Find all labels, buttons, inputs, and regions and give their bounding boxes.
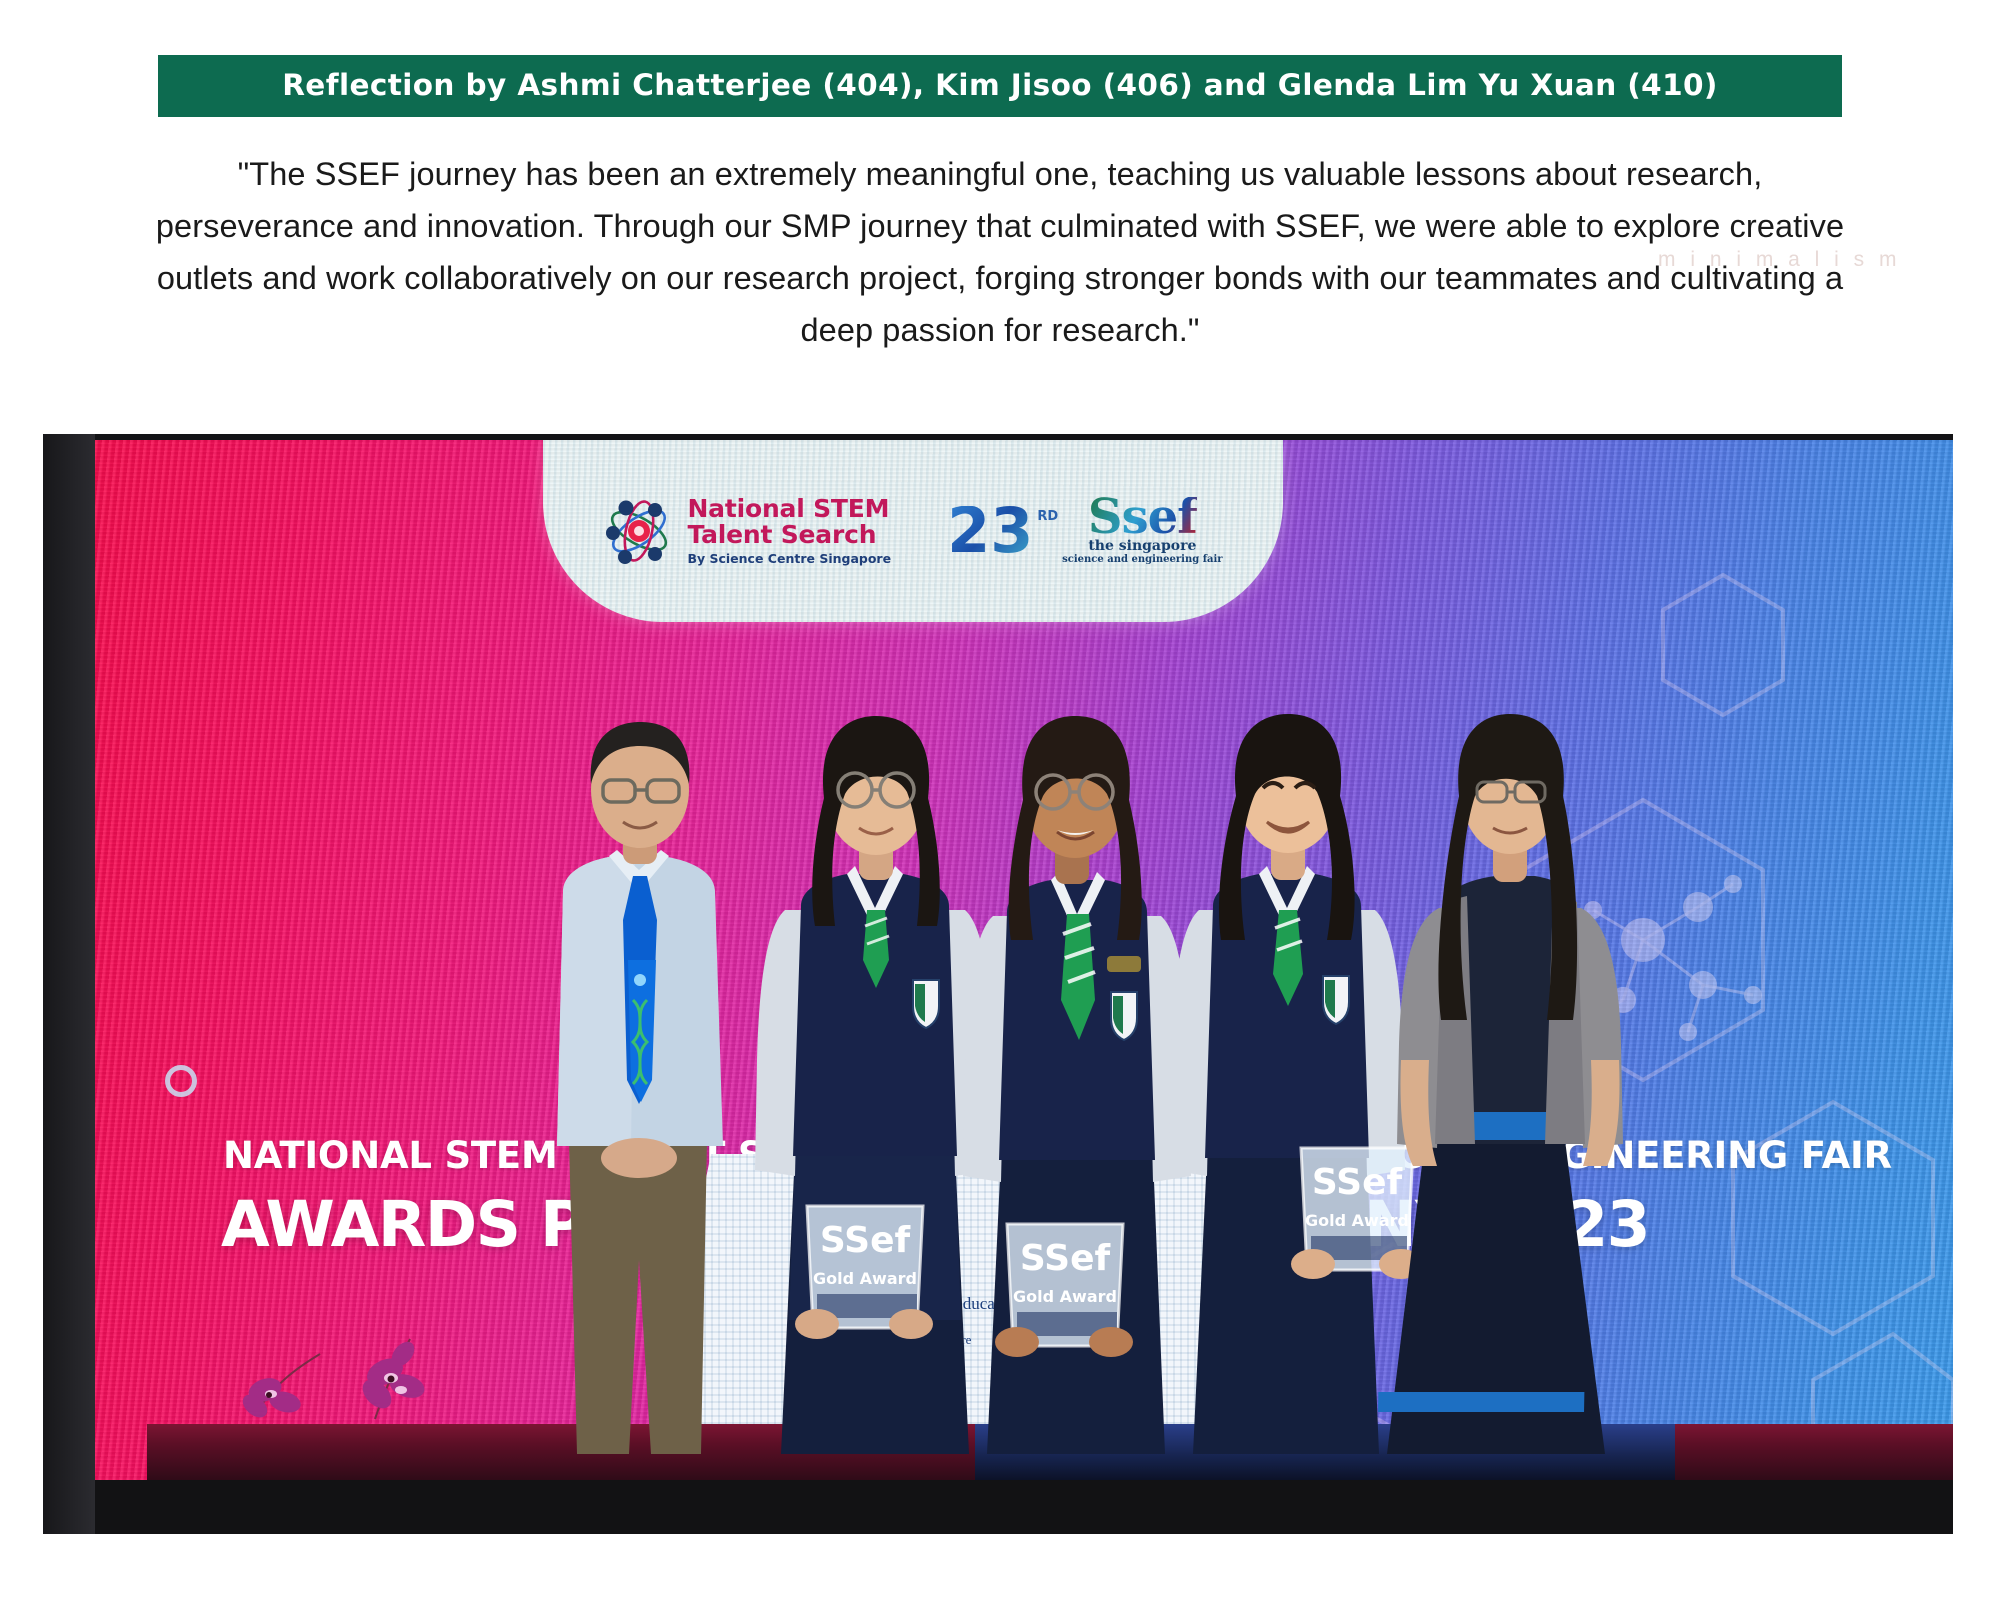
orchid-decoration [225, 1294, 485, 1424]
led-wall: National STEM Talent Search By Science C… [95, 440, 1953, 1480]
stage-floor-blue-section [975, 1424, 1675, 1480]
ssef-edition-ordinal: RD [1037, 509, 1058, 524]
national-stem-talent-search-logo: National STEM Talent Search By Science C… [603, 495, 891, 567]
hexagon-molecule-decoration [1193, 440, 1953, 1480]
nsts-title-line1: National STEM [687, 496, 891, 522]
ssef-edition-number: 23 [947, 506, 1033, 556]
ssef-tagline-2: science and engineering fair [1062, 554, 1222, 565]
reflection-banner: Reflection by Ashmi Chatterjee (404), Ki… [158, 55, 1842, 117]
ceremony-photo: National STEM Talent Search By Science C… [43, 434, 1953, 1534]
banner-title: Reflection by Ashmi Chatterjee (404), Ki… [282, 71, 1718, 101]
nsts-title-line2: Talent Search [687, 522, 891, 548]
reflection-quote-block: "The SSEF journey has been an extremely … [140, 148, 1860, 356]
ssef-wordmark: Ssef [1088, 497, 1197, 538]
nsts-subtitle: By Science Centre Singapore [687, 553, 891, 566]
photo-left-bezel [43, 434, 95, 1534]
reflection-quote-text: "The SSEF journey has been an extremely … [140, 148, 1860, 356]
backdrop-line1: Ministry of Education [871, 1294, 1021, 1314]
backdrop-line2: singapore [921, 1332, 972, 1348]
ssef-tagline-1: the singapore [1088, 538, 1196, 554]
backdrop-swirl-graphic [1046, 1248, 1185, 1413]
ssef-logo: 23 RD Ssef the singapore science and eng… [947, 497, 1222, 565]
stage-backdrop: Ministry of Education singapore [655, 1154, 1215, 1424]
atom-icon [603, 495, 675, 567]
ring-icon [165, 1065, 197, 1097]
logo-panel: National STEM Talent Search By Science C… [543, 440, 1283, 622]
person-teacher [1378, 714, 1623, 1454]
